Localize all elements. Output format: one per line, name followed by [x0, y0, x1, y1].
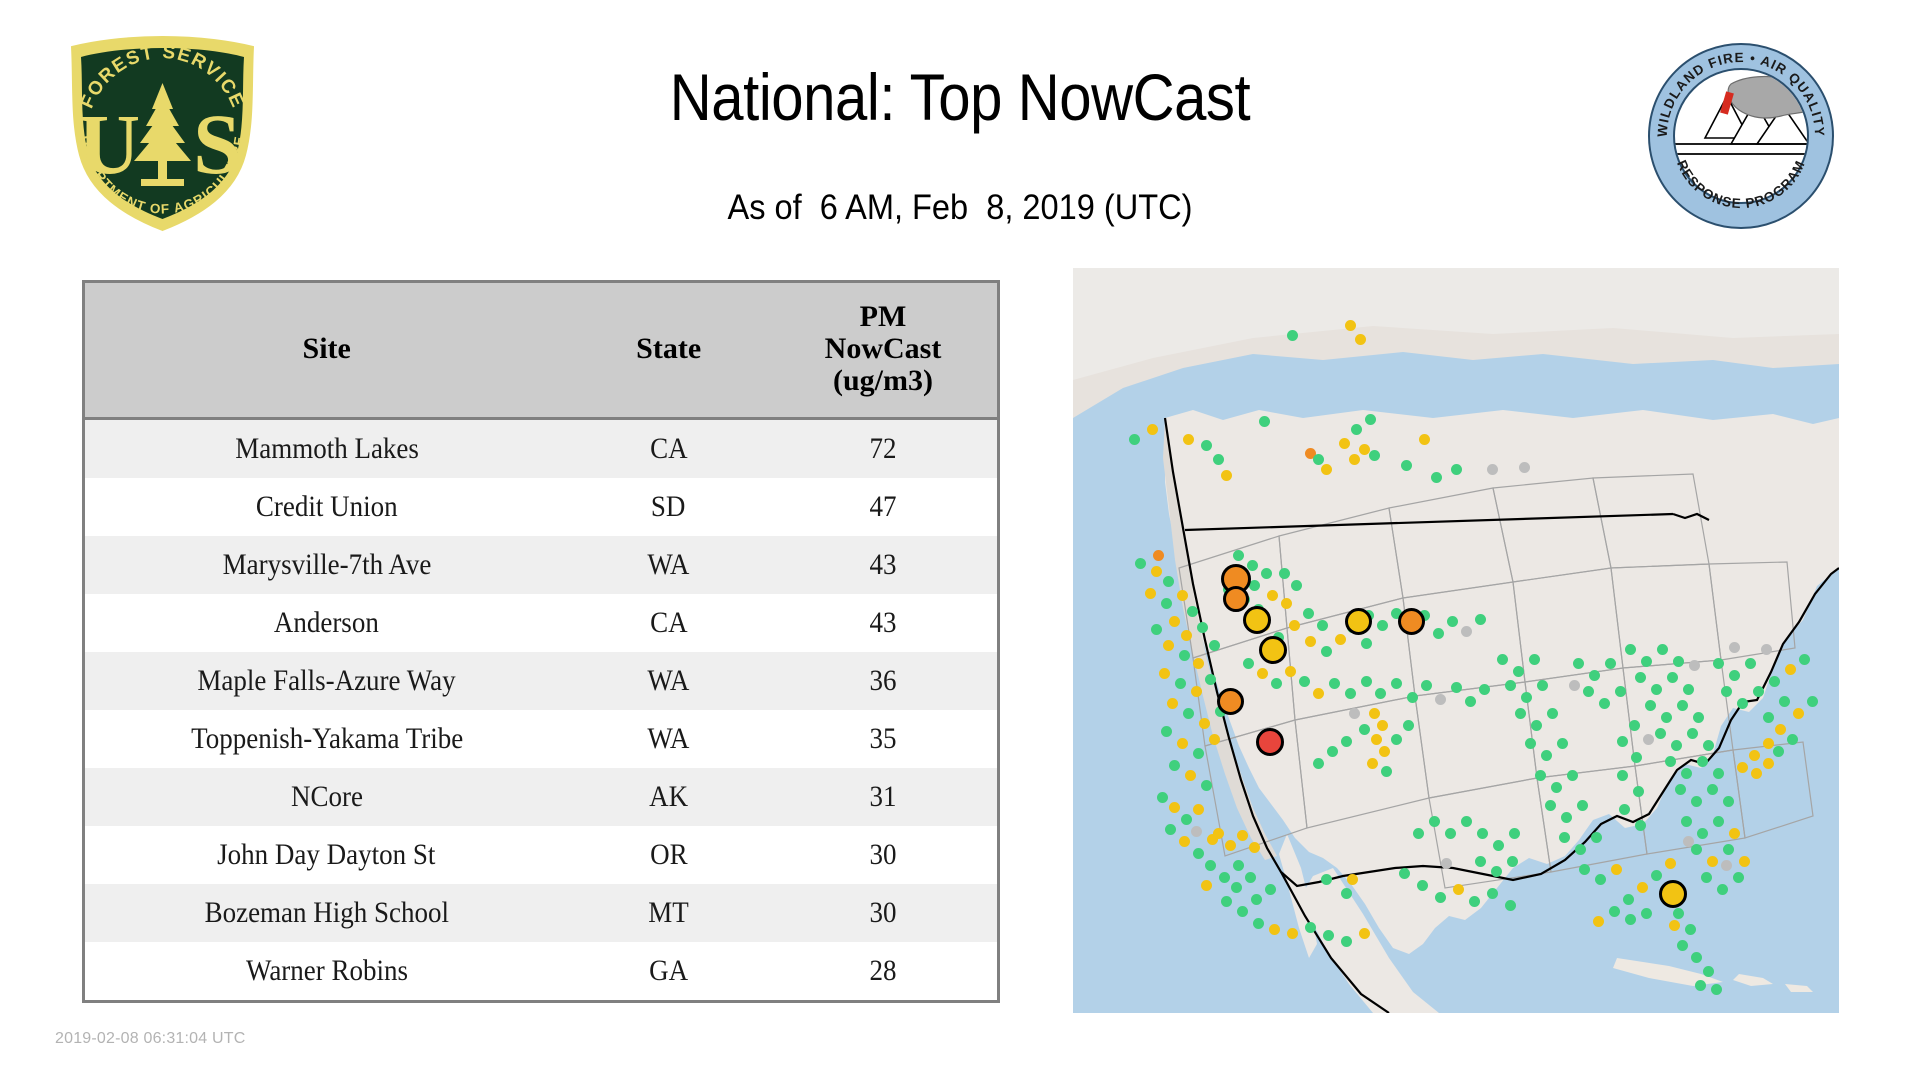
table-row[interactable]: Mammoth Lakes CA 72 [85, 419, 997, 479]
table-row[interactable]: Maple Falls-Azure Way WA 36 [85, 652, 997, 710]
monitor-dot-good [1753, 686, 1764, 697]
monitor-dot-good [1691, 952, 1702, 963]
monitor-dot-good [1169, 760, 1180, 771]
monitor-dot-moderate [1313, 688, 1324, 699]
cell-site: Bozeman High School [85, 884, 568, 942]
cell-state: CA [568, 594, 769, 652]
column-header-pm-line3: (ug/m3) [833, 364, 933, 397]
monitor-dot-good [1541, 750, 1552, 761]
monitor-dot-good [1631, 752, 1642, 763]
monitor-dot-good [1381, 766, 1392, 777]
monitor-dot-good [1615, 686, 1626, 697]
monitor-dot-good [1175, 678, 1186, 689]
monitor-dot-good [1559, 832, 1570, 843]
monitor-dot-moderate [1249, 842, 1260, 853]
monitor-dot-moderate [1763, 758, 1774, 769]
monitor-dot-good [1651, 684, 1662, 695]
monitor-dot-good [1573, 658, 1584, 669]
column-header-pm-nowcast: PM NowCast (ug/m3) [769, 283, 997, 419]
top-nowcast-table-container: Site State PM NowCast (ug/m3) Mammoth La… [82, 280, 1000, 1003]
highlight-marker-anderson-ca[interactable] [1217, 688, 1244, 715]
monitor-dot-moderate [1193, 804, 1204, 815]
monitor-dot-moderate [1177, 738, 1188, 749]
monitor-dot-moderate [1339, 438, 1350, 449]
table-row[interactable]: Marysville-7th Ave WA 43 [85, 536, 997, 594]
cell-pm: 28 [769, 942, 997, 1000]
monitor-dot-good [1231, 882, 1242, 893]
column-header-site: Site [85, 283, 568, 419]
cell-site: Anderson [85, 594, 568, 652]
cell-state: SD [568, 478, 769, 536]
monitor-dot-good [1561, 812, 1572, 823]
monitor-dot-good [1635, 672, 1646, 683]
cell-state: CA [568, 419, 769, 479]
cell-pm: 36 [769, 652, 997, 710]
monitor-dot-moderate [1289, 620, 1300, 631]
monitor-dot-good [1243, 658, 1254, 669]
monitor-dot-good [1163, 576, 1174, 587]
monitor-dot-good [1721, 686, 1732, 697]
highlight-marker-warner-robins-ga[interactable] [1659, 880, 1687, 908]
monitor-dot-moderate [1167, 698, 1178, 709]
monitor-dot-no-data [1191, 826, 1202, 837]
monitor-dot-good [1769, 676, 1780, 687]
monitor-dot-good [1317, 620, 1328, 631]
cell-pm: 35 [769, 710, 997, 768]
monitor-dot-good [1205, 860, 1216, 871]
cell-pm: 43 [769, 594, 997, 652]
monitor-dot-moderate [1225, 840, 1236, 851]
monitor-dot-good [1551, 782, 1562, 793]
monitor-dot-moderate [1237, 830, 1248, 841]
monitor-dot-good [1401, 460, 1412, 471]
monitor-dot-good [1391, 678, 1402, 689]
monitor-dot-good [1605, 658, 1616, 669]
table-row[interactable]: Toppenish-Yakama Tribe WA 35 [85, 710, 997, 768]
monitor-dot-good [1417, 880, 1428, 891]
monitor-dot-good [1773, 746, 1784, 757]
monitor-dot-moderate [1169, 802, 1180, 813]
monitor-dot-good [1661, 712, 1672, 723]
monitor-dot-good [1421, 680, 1432, 691]
monitor-dot-good [1161, 598, 1172, 609]
monitor-dot-good [1157, 792, 1168, 803]
monitor-dot-good [1341, 888, 1352, 899]
monitor-dot-good [1505, 680, 1516, 691]
column-header-state: State [568, 283, 769, 419]
monitor-dot-good [1399, 868, 1410, 879]
table-row[interactable]: NCore AK 31 [85, 768, 997, 826]
monitor-dot-good [1321, 874, 1332, 885]
monitor-dot-good [1711, 984, 1722, 995]
monitor-dot-good [1291, 580, 1302, 591]
monitor-dot-good [1251, 894, 1262, 905]
monitor-dot-good [1685, 924, 1696, 935]
monitor-dot-good [1129, 434, 1140, 445]
monitor-dot-moderate [1335, 634, 1346, 645]
monitor-dot-good [1641, 908, 1652, 919]
monitor-dot-good [1179, 650, 1190, 661]
monitor-dot-good [1403, 720, 1414, 731]
monitor-dot-good [1521, 692, 1532, 703]
monitor-dot-good [1697, 756, 1708, 767]
column-header-site-label: Site [303, 332, 351, 365]
monitor-dot-good [1431, 472, 1442, 483]
cell-site: Warner Robins [85, 942, 568, 1000]
monitor-dot-good [1245, 872, 1256, 883]
monitor-dot-good [1445, 828, 1456, 839]
monitor-dot-good [1567, 770, 1578, 781]
monitor-dot-good [1151, 624, 1162, 635]
table-row[interactable]: Warner Robins GA 28 [85, 942, 997, 1000]
monitor-dot-moderate [1179, 836, 1190, 847]
table-row[interactable]: John Day Dayton St OR 30 [85, 826, 997, 884]
cell-state: WA [568, 652, 769, 710]
monitor-dot-good [1651, 870, 1662, 881]
monitor-dot-moderate [1305, 636, 1316, 647]
monitor-dot-moderate [1257, 668, 1268, 679]
monitor-dot-good [1657, 644, 1668, 655]
monitor-dot-moderate [1347, 874, 1358, 885]
monitor-dot-no-data [1689, 660, 1700, 671]
monitor-dot-good [1329, 678, 1340, 689]
monitor-dot-good [1701, 872, 1712, 883]
monitor-dot-moderate [1369, 708, 1380, 719]
monitor-dot-good [1303, 608, 1314, 619]
monitor-dot-good [1591, 832, 1602, 843]
table-row[interactable]: Credit Union SD 47 [85, 478, 997, 536]
monitor-dot-good [1723, 844, 1734, 855]
monitor-dot-good [1201, 780, 1212, 791]
monitor-dot-good [1429, 816, 1440, 827]
monitor-dot-good [1673, 908, 1684, 919]
monitor-dot-good [1135, 558, 1146, 569]
monitor-dot-good [1703, 740, 1714, 751]
monitor-dot-no-data [1435, 694, 1446, 705]
monitor-dot-good [1635, 820, 1646, 831]
cell-state: WA [568, 710, 769, 768]
monitor-dot-good [1665, 756, 1676, 767]
monitor-dot-good [1341, 736, 1352, 747]
monitor-dot-good [1695, 980, 1706, 991]
monitor-dot-moderate [1191, 686, 1202, 697]
monitor-dot-good [1799, 654, 1810, 665]
monitor-dot-moderate [1147, 424, 1158, 435]
footer-timestamp: 2019-02-08 06:31:04 UTC [55, 1030, 246, 1048]
monitor-dot-moderate [1379, 746, 1390, 757]
monitor-dot-good [1205, 674, 1216, 685]
monitor-dot-moderate [1793, 708, 1804, 719]
monitor-dot-good [1545, 800, 1556, 811]
monitor-dot-moderate [1269, 924, 1280, 935]
monitor-dot-no-data [1761, 644, 1772, 655]
monitor-dot-no-data [1683, 836, 1694, 847]
monitor-dot-good [1733, 872, 1744, 883]
cell-site: NCore [85, 768, 568, 826]
monitor-dot-good [1535, 770, 1546, 781]
monitor-dot-moderate [1209, 734, 1220, 745]
monitor-dot-good [1579, 864, 1590, 875]
monitor-dot-moderate [1775, 724, 1786, 735]
cell-state: GA [568, 942, 769, 1000]
monitor-dot-moderate [1737, 762, 1748, 773]
monitor-dot-moderate [1193, 658, 1204, 669]
monitor-dot-good [1477, 828, 1488, 839]
monitor-dot-good [1475, 856, 1486, 867]
cell-site: Credit Union [85, 478, 568, 536]
monitor-dot-good [1691, 844, 1702, 855]
monitor-dot-good [1377, 620, 1388, 631]
monitor-dot-moderate [1359, 928, 1370, 939]
highlight-marker-mammoth-lakes-ca[interactable] [1256, 728, 1284, 756]
cell-pm: 47 [769, 478, 997, 536]
monitor-dot-unhealthy-sensitive [1153, 550, 1164, 561]
monitor-dot-moderate [1707, 856, 1718, 867]
cell-pm: 30 [769, 884, 997, 942]
cell-state: MT [568, 884, 769, 942]
monitor-dot-good [1321, 646, 1332, 657]
cell-pm: 43 [769, 536, 997, 594]
monitor-dot-good [1703, 966, 1714, 977]
highlight-marker-john-day-dayton-st-or[interactable] [1259, 636, 1287, 664]
monitor-dot-good [1655, 728, 1666, 739]
monitor-dot-moderate [1367, 758, 1378, 769]
monitor-dot-good [1299, 676, 1310, 687]
column-header-state-label: State [636, 332, 701, 365]
monitor-dot-good [1525, 738, 1536, 749]
monitor-dot-good [1233, 550, 1244, 561]
table-row[interactable]: Anderson CA 43 [85, 594, 997, 652]
monitor-dot-good [1671, 740, 1682, 751]
monitor-dot-good [1305, 922, 1316, 933]
monitor-dot-moderate [1593, 916, 1604, 927]
monitor-dot-good [1345, 688, 1356, 699]
monitor-dot-good [1609, 906, 1620, 917]
highlight-marker-credit-union-sd[interactable] [1398, 608, 1425, 635]
monitor-dot-no-data [1519, 462, 1530, 473]
monitor-dot-good [1365, 414, 1376, 425]
monitor-dot-moderate [1371, 734, 1382, 745]
monitor-dot-no-data [1461, 626, 1472, 637]
monitor-dot-good [1617, 770, 1628, 781]
monitor-dot-no-data [1349, 708, 1360, 719]
monitor-dot-moderate [1267, 590, 1278, 601]
monitor-dot-good [1577, 800, 1588, 811]
monitor-dot-moderate [1785, 664, 1796, 675]
monitor-dots-layer [1073, 268, 1839, 1013]
monitor-dot-moderate [1285, 666, 1296, 677]
monitor-dot-good [1737, 698, 1748, 709]
monitor-dot-good [1341, 936, 1352, 947]
monitor-dot-good [1161, 726, 1172, 737]
monitor-dot-good [1625, 644, 1636, 655]
monitor-dot-good [1407, 692, 1418, 703]
monitor-dot-good [1233, 860, 1244, 871]
cell-pm: 72 [769, 419, 997, 479]
monitor-dot-good [1193, 848, 1204, 859]
monitor-dot-moderate [1751, 768, 1762, 779]
monitor-dot-good [1465, 696, 1476, 707]
monitor-dot-moderate [1729, 828, 1740, 839]
monitor-dot-good [1745, 658, 1756, 669]
monitor-dot-good [1667, 672, 1678, 683]
highlight-marker-bozeman-high-school-mt[interactable] [1345, 608, 1372, 635]
monitor-dot-moderate [1287, 928, 1298, 939]
table-header: Site State PM NowCast (ug/m3) [85, 283, 997, 419]
monitor-dot-good [1361, 638, 1372, 649]
monitor-dot-no-data [1729, 642, 1740, 653]
monitor-dot-no-data [1643, 734, 1654, 745]
monitor-dot-good [1673, 656, 1684, 667]
national-air-quality-map[interactable] [1073, 268, 1839, 1013]
monitor-dot-moderate [1177, 590, 1188, 601]
monitor-dot-moderate [1183, 434, 1194, 445]
monitor-dot-good [1729, 670, 1740, 681]
cell-site: Marysville-7th Ave [85, 536, 568, 594]
highlight-marker-maple-falls-azure-way-wa[interactable] [1223, 586, 1249, 612]
cell-site: Mammoth Lakes [85, 419, 568, 479]
monitor-dot-good [1323, 930, 1334, 941]
monitor-dot-good [1537, 680, 1548, 691]
monitor-dot-moderate [1201, 880, 1212, 891]
monitor-dot-good [1201, 440, 1212, 451]
monitor-dot-good [1675, 784, 1686, 795]
monitor-dot-good [1313, 454, 1324, 465]
monitor-dot-good [1391, 734, 1402, 745]
monitor-dot-good [1261, 568, 1272, 579]
column-header-pm-line1: PM [860, 300, 907, 333]
monitor-dot-good [1681, 816, 1692, 827]
monitor-dot-good [1487, 888, 1498, 899]
monitor-dot-good [1557, 738, 1568, 749]
monitor-dot-moderate [1739, 856, 1750, 867]
cell-site: John Day Dayton St [85, 826, 568, 884]
monitor-dot-good [1165, 824, 1176, 835]
monitor-dot-moderate [1145, 588, 1156, 599]
monitor-dot-good [1583, 686, 1594, 697]
monitor-dot-good [1677, 700, 1688, 711]
monitor-dot-moderate [1763, 738, 1774, 749]
monitor-dot-good [1589, 670, 1600, 681]
monitor-dot-good [1327, 746, 1338, 757]
cell-state: AK [568, 768, 769, 826]
monitor-dot-good [1435, 892, 1446, 903]
monitor-dot-good [1183, 708, 1194, 719]
monitor-dot-good [1505, 900, 1516, 911]
monitor-dot-good [1287, 330, 1298, 341]
monitor-dot-good [1209, 640, 1220, 651]
monitor-dot-good [1461, 816, 1472, 827]
monitor-dot-good [1619, 804, 1630, 815]
column-header-pm-line2: NowCast [825, 332, 942, 365]
monitor-dot-moderate [1355, 334, 1366, 345]
monitor-dot-good [1547, 708, 1558, 719]
monitor-dot-good [1691, 796, 1702, 807]
monitor-dot-good [1779, 696, 1790, 707]
monitor-dot-moderate [1181, 630, 1192, 641]
cell-state: OR [568, 826, 769, 884]
monitor-dot-moderate [1281, 598, 1292, 609]
monitor-dot-no-data [1721, 860, 1732, 871]
cell-state: WA [568, 536, 769, 594]
monitor-dot-good [1595, 874, 1606, 885]
monitor-dot-good [1629, 720, 1640, 731]
monitor-dot-good [1479, 684, 1490, 695]
monitor-dot-no-data [1487, 464, 1498, 475]
monitor-dot-good [1469, 896, 1480, 907]
monitor-dot-good [1375, 688, 1386, 699]
cell-site: Toppenish-Yakama Tribe [85, 710, 568, 768]
page-title: National: Top NowCast [115, 58, 1805, 136]
monitor-dot-good [1599, 698, 1610, 709]
monitor-dot-moderate [1185, 770, 1196, 781]
table-row[interactable]: Bozeman High School MT 30 [85, 884, 997, 942]
monitor-dot-moderate [1169, 616, 1180, 627]
monitor-dot-good [1433, 628, 1444, 639]
monitor-dot-good [1623, 894, 1634, 905]
monitor-dot-moderate [1419, 434, 1430, 445]
monitor-dot-good [1641, 656, 1652, 667]
monitor-dot-moderate [1151, 566, 1162, 577]
monitor-dot-moderate [1637, 882, 1648, 893]
monitor-dot-good [1697, 828, 1708, 839]
monitor-dot-good [1513, 666, 1524, 677]
monitor-dot-good [1265, 884, 1276, 895]
monitor-dot-good [1247, 560, 1258, 571]
monitor-dot-good [1259, 416, 1270, 427]
monitor-dot-good [1787, 734, 1798, 745]
monitor-dot-no-data [1569, 680, 1580, 691]
monitor-dot-good [1491, 866, 1502, 877]
monitor-dot-good [1451, 464, 1462, 475]
cell-pm: 31 [769, 768, 997, 826]
monitor-dot-moderate [1665, 858, 1676, 869]
monitor-dot-good [1617, 736, 1628, 747]
monitor-dot-good [1313, 758, 1324, 769]
monitor-dot-good [1509, 828, 1520, 839]
monitor-dot-good [1271, 678, 1282, 689]
monitor-dot-moderate [1221, 470, 1232, 481]
monitor-dot-good [1575, 844, 1586, 855]
page-subtitle: As of 6 AM, Feb 8, 2019 (UTC) [67, 186, 1853, 230]
monitor-dot-good [1707, 784, 1718, 795]
monitor-dot-good [1683, 684, 1694, 695]
monitor-dot-good [1369, 450, 1380, 461]
monitor-dot-moderate [1349, 454, 1360, 465]
monitor-dot-good [1531, 720, 1542, 731]
monitor-dot-moderate [1611, 864, 1622, 875]
monitor-dot-good [1713, 768, 1724, 779]
monitor-dot-good [1497, 654, 1508, 665]
monitor-dot-moderate [1159, 668, 1170, 679]
cell-pm: 30 [769, 826, 997, 884]
monitor-dot-good [1213, 454, 1224, 465]
monitor-dot-moderate [1199, 718, 1210, 729]
monitor-dot-good [1693, 712, 1704, 723]
monitor-dot-good [1181, 814, 1192, 825]
table-body: Mammoth Lakes CA 72 Credit Union SD 47 M… [85, 419, 997, 1001]
monitor-dot-good [1515, 708, 1526, 719]
monitor-dot-good [1507, 856, 1518, 867]
monitor-dot-good [1351, 424, 1362, 435]
monitor-dot-good [1187, 606, 1198, 617]
monitor-dot-good [1193, 748, 1204, 759]
monitor-dot-good [1807, 696, 1818, 707]
monitor-dot-moderate [1749, 750, 1760, 761]
monitor-dot-good [1493, 840, 1504, 851]
monitor-dot-moderate [1163, 640, 1174, 651]
highlight-marker-toppenish-yakama-tribe-wa[interactable] [1243, 606, 1271, 634]
